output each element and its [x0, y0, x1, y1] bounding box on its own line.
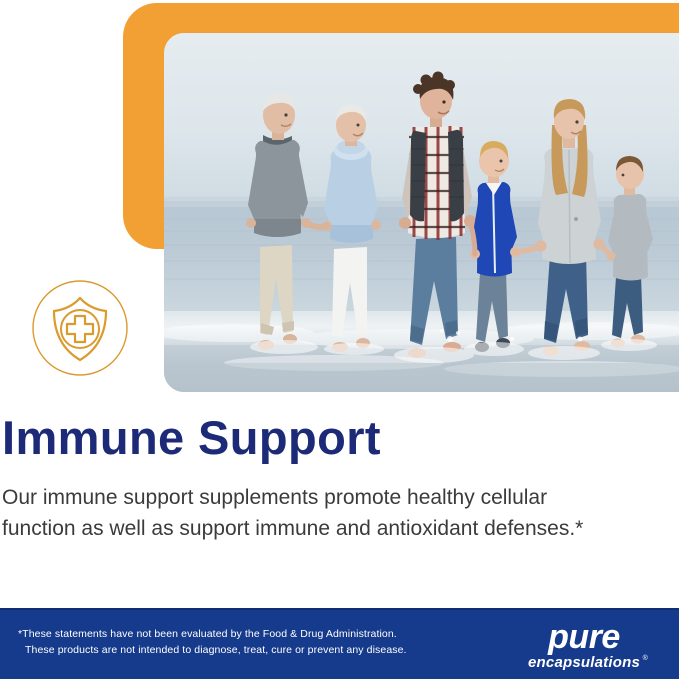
registered-trademark-icon: ® [643, 651, 648, 667]
product-banner: Immune Support Our immune support supple… [0, 0, 679, 679]
shield-medical-cross-icon [30, 278, 130, 378]
hero-photo [164, 33, 679, 392]
copy-block: Immune Support Our immune support supple… [2, 408, 642, 544]
disclaimer-line-2: These products are not intended to diagn… [18, 642, 407, 658]
page-subtitle: Our immune support supplements promote h… [2, 482, 602, 544]
page-title: Immune Support [2, 408, 642, 468]
fda-disclaimer: *These statements have not been evaluate… [18, 626, 407, 658]
footer-band: *These statements have not been evaluate… [0, 608, 679, 679]
brand-name: pure [511, 621, 657, 654]
brand-tagline-wrap: encapsulations ® [528, 655, 640, 671]
disclaimer-line-1: *These statements have not been evaluate… [18, 626, 407, 642]
brand-logo: pure encapsulations ® [511, 621, 657, 672]
brand-tagline: encapsulations [528, 654, 640, 671]
beach-family-illustration [164, 33, 679, 392]
immune-shield-badge [30, 278, 130, 378]
